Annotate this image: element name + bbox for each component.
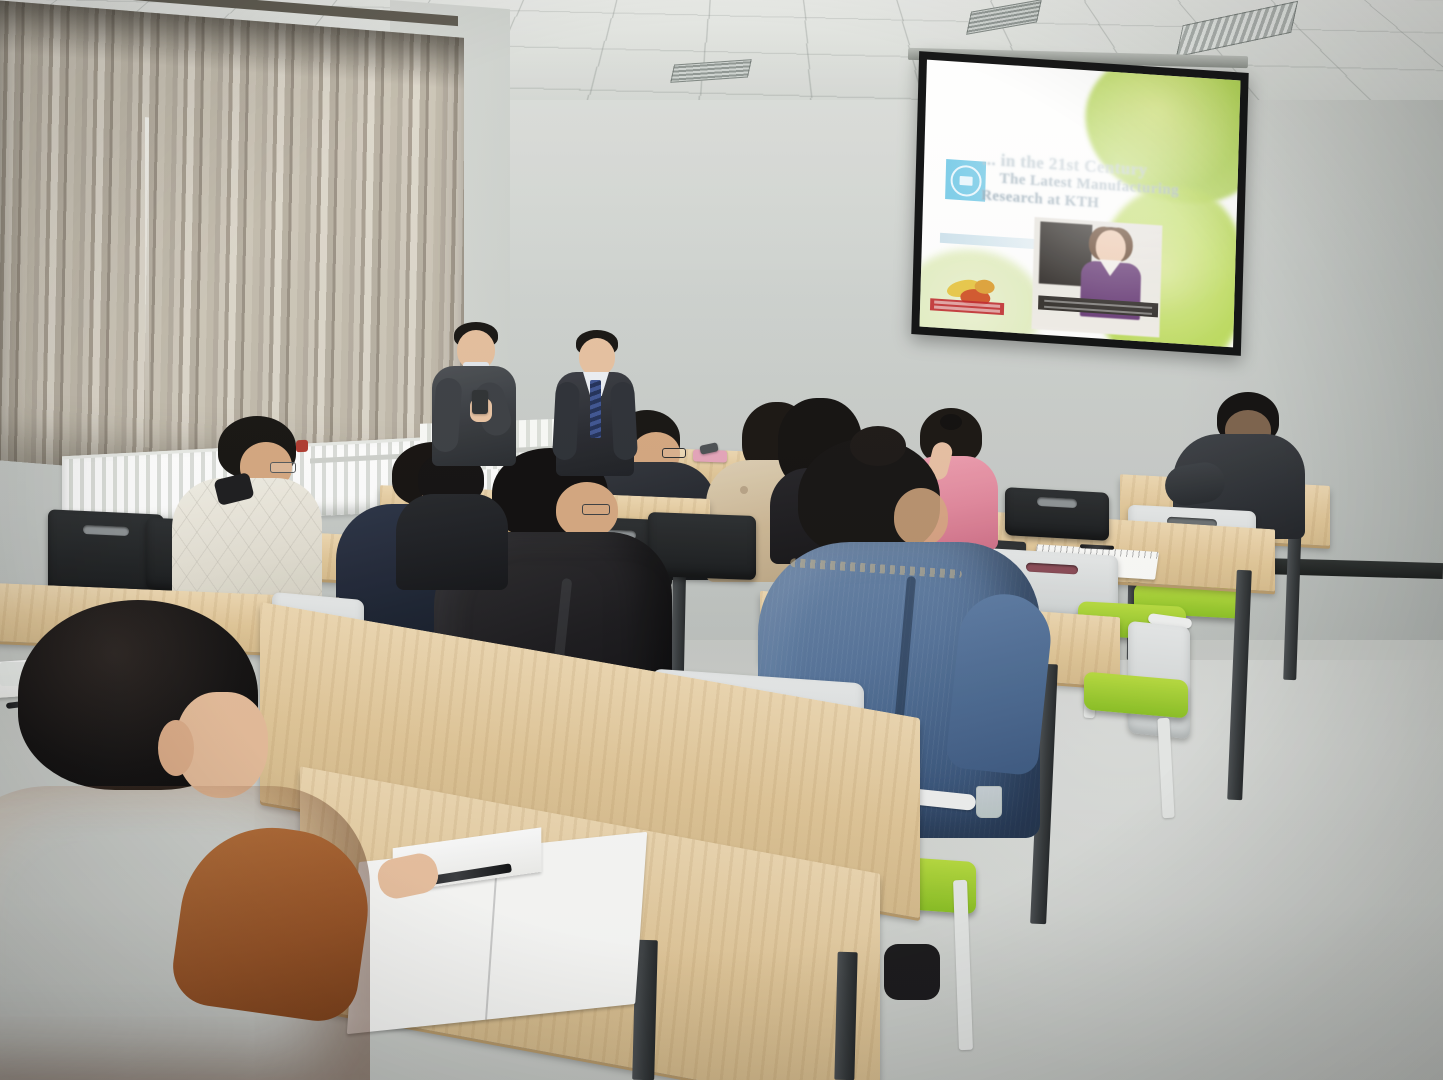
ear: [158, 720, 194, 776]
head: [579, 338, 615, 376]
eyeglasses-icon: [582, 504, 610, 515]
presenter-right: [556, 330, 636, 478]
curtain-light-gap: [145, 117, 149, 447]
necktie: [590, 380, 601, 438]
attendee-white-coat: [172, 416, 332, 616]
mobile-phone[interactable]: [472, 390, 488, 414]
water-cup: [976, 786, 1002, 818]
classroom-photo: ... in the 21st Century The Latest Manuf…: [0, 0, 1443, 1080]
head: [894, 488, 948, 546]
projection-screen[interactable]: ... in the 21st Century The Latest Manuf…: [911, 51, 1248, 356]
eyeglasses-icon: [270, 462, 296, 473]
arm: [431, 377, 462, 453]
attendee-foreground: [0, 600, 430, 1080]
arm: [552, 381, 580, 460]
projector-glare: [920, 60, 1241, 348]
presentation-slide: ... in the 21st Century The Latest Manuf…: [920, 60, 1241, 348]
torso: [396, 494, 508, 590]
shoe: [884, 944, 940, 1000]
desk-leg: [834, 952, 857, 1080]
hair-bun: [940, 414, 962, 430]
presenter-left: [430, 322, 520, 474]
coat-button: [740, 486, 748, 494]
hair-bun: [850, 426, 906, 466]
arm: [610, 381, 638, 460]
